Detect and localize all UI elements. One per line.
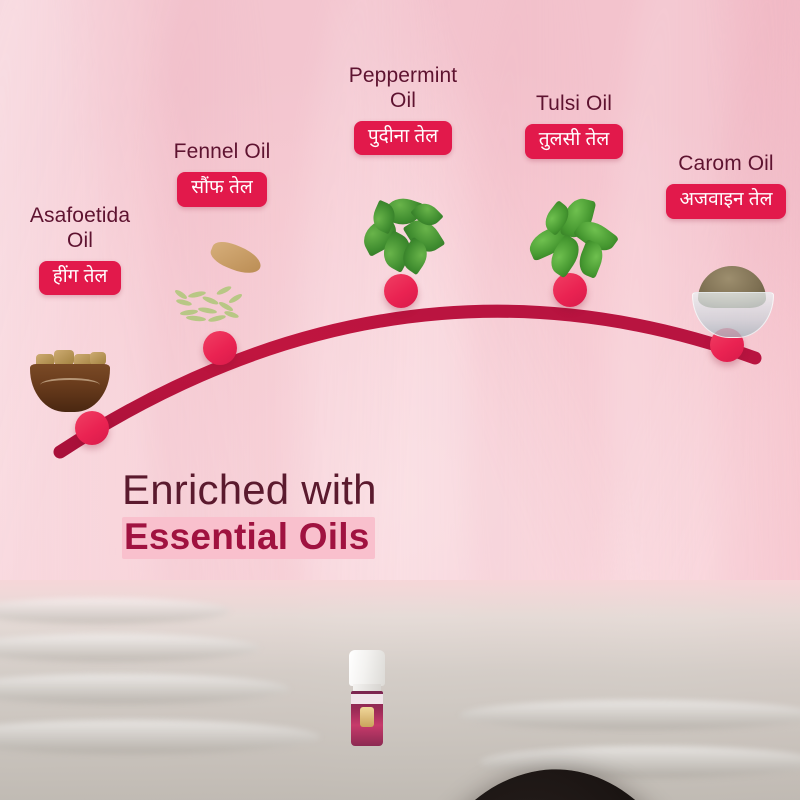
callout-fennel[interactable]: Fennel Oil सौंफ तेल bbox=[156, 140, 288, 207]
callout-peppermint[interactable]: Peppermint Oil पुदीना तेल bbox=[330, 64, 476, 155]
callout-carom[interactable]: Carom Oil अजवाइन तेल bbox=[656, 152, 796, 219]
callout-badge-asafoetida[interactable]: हींग तेल bbox=[39, 261, 122, 296]
callout-badge-peppermint[interactable]: पुदीना तेल bbox=[354, 121, 452, 156]
poster-canvas: Asafoetida Oil हींग तेल Fennel Oil सौंफ … bbox=[0, 0, 800, 800]
headline-highlight: Essential Oils bbox=[122, 517, 375, 560]
mint-leaves-icon bbox=[354, 186, 450, 282]
callout-title-peppermint: Peppermint Oil bbox=[330, 64, 476, 114]
callout-badge-fennel[interactable]: सौंफ तेल bbox=[177, 172, 266, 207]
callout-tulsi[interactable]: Tulsi Oil तुलसी तेल bbox=[506, 92, 642, 159]
headline-line-2: Essential Oils bbox=[124, 518, 369, 557]
callout-title-carom: Carom Oil bbox=[656, 152, 796, 177]
tulsi-leaves-icon bbox=[524, 190, 620, 286]
asafoetida-bowl-icon bbox=[22, 322, 118, 418]
callout-badge-carom[interactable]: अजवाइन तेल bbox=[666, 184, 787, 219]
callout-title-fennel: Fennel Oil bbox=[156, 140, 288, 165]
headline-block: Enriched with Essential Oils bbox=[122, 468, 377, 559]
fennel-seeds-icon bbox=[170, 238, 266, 334]
headline-line-1: Enriched with bbox=[122, 468, 377, 513]
arc-node-fennel[interactable] bbox=[203, 331, 237, 365]
callout-title-asafoetida: Asafoetida Oil bbox=[10, 204, 150, 254]
carom-seeds-bowl-icon bbox=[684, 248, 780, 344]
callout-badge-tulsi[interactable]: तुलसी तेल bbox=[525, 124, 623, 159]
callout-asafoetida[interactable]: Asafoetida Oil हींग तेल bbox=[10, 204, 150, 295]
callout-title-tulsi: Tulsi Oil bbox=[506, 92, 642, 117]
